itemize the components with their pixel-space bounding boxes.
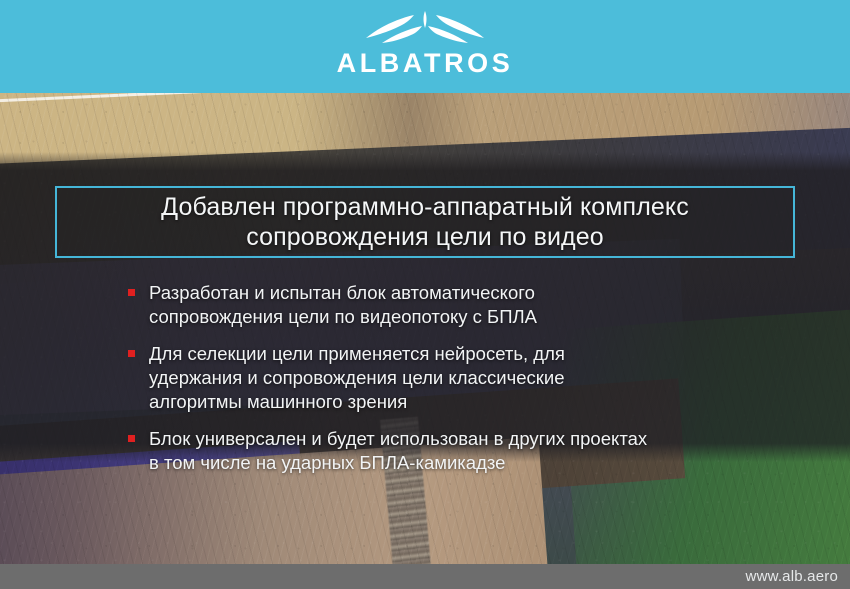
square-bullet-icon — [128, 350, 135, 357]
brand-header-band: ALBATROS — [0, 0, 850, 93]
list-item: Для селекции цели применяется нейросеть,… — [128, 342, 768, 413]
list-item: Разработан и испытан блок автоматическог… — [128, 281, 768, 328]
page-title: Добавлен программно-аппаратный комплекс … — [57, 192, 793, 253]
list-item-text: Разработан и испытан блок автоматическог… — [149, 281, 537, 328]
website-url: www.alb.aero — [746, 568, 850, 585]
bullet-list: Разработан и испытан блок автоматическог… — [128, 281, 768, 475]
list-item-text: Блок универсален и будет использован в д… — [149, 427, 647, 474]
footer-bar: www.alb.aero — [0, 564, 850, 589]
list-item-text: Для селекции цели применяется нейросеть,… — [149, 342, 565, 413]
list-item: Блок универсален и будет использован в д… — [128, 427, 768, 474]
presentation-slide: ALBATROS Добавлен программно-аппаратный … — [0, 0, 850, 589]
brand-wordmark: ALBATROS — [337, 50, 514, 77]
slide-title-box: Добавлен программно-аппаратный комплекс … — [55, 186, 795, 258]
square-bullet-icon — [128, 289, 135, 296]
square-bullet-icon — [128, 435, 135, 442]
albatros-wing-logo-icon — [362, 8, 488, 48]
